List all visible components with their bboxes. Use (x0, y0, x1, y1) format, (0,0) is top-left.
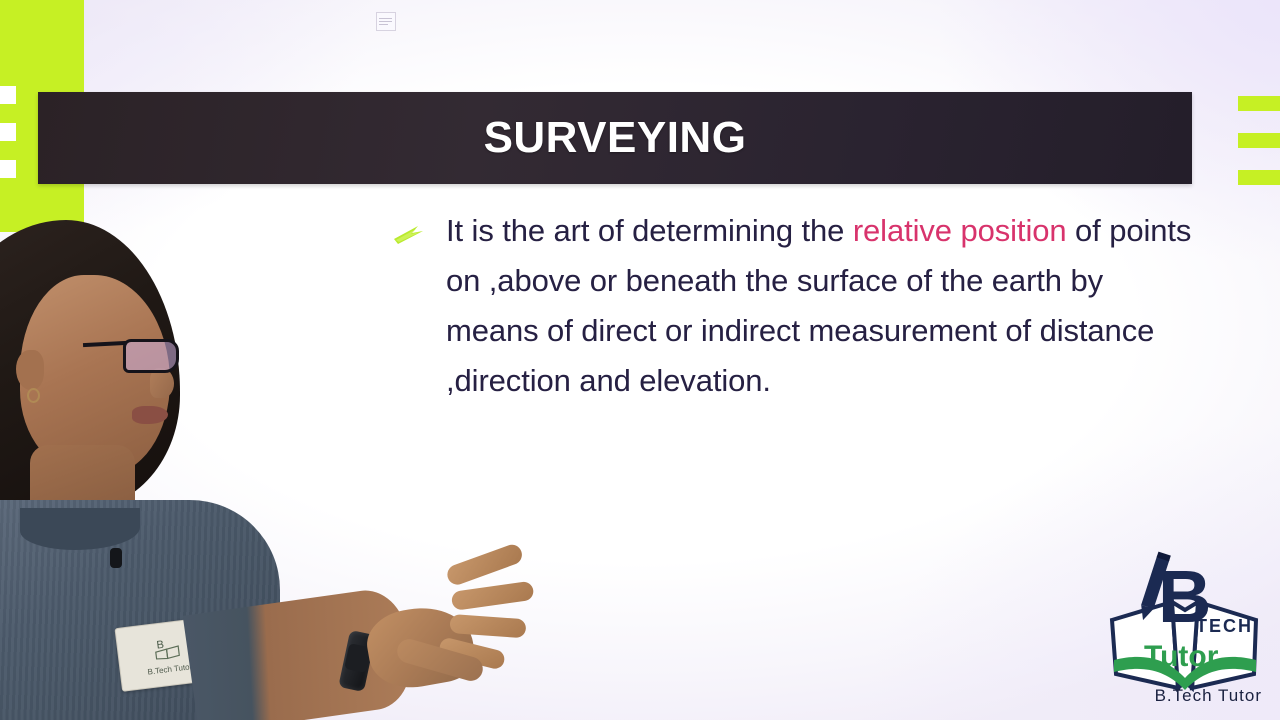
glasses-temple (83, 341, 127, 347)
bullet-block: It is the art of determining the relativ… (392, 206, 1204, 406)
presenter-glasses-icon (95, 337, 173, 371)
right-accent-dash (1238, 96, 1280, 111)
presenter-earring (27, 388, 40, 403)
slide-title: SURVEYING (484, 113, 747, 163)
artifact-line (379, 21, 392, 22)
slide-title-bar: SURVEYING (38, 92, 1192, 184)
bullet-text-highlight: relative position (853, 213, 1067, 248)
presenter-ear (16, 350, 44, 390)
glasses-lens (123, 339, 179, 373)
brand-watermark: B.Tech Tutor (1155, 686, 1262, 706)
right-accent-dash (1238, 170, 1280, 185)
accent-dash (0, 123, 16, 141)
document-artifact-icon (376, 12, 396, 31)
slide-screenshot: SURVEYING It is the art of determining t… (0, 0, 1280, 720)
accent-dash (0, 86, 16, 104)
bullet-text-part-1: It is the art of determining the (446, 213, 853, 248)
logo-text-tutor: Tutor (1144, 640, 1219, 673)
bullet-paragraph: It is the art of determining the relativ… (426, 206, 1204, 406)
accent-dash (0, 160, 16, 178)
badge-logo-icon: B (149, 633, 186, 665)
logo-text-tech: TECH (1196, 616, 1253, 636)
artifact-line (379, 24, 388, 25)
artifact-line (379, 18, 392, 19)
arrow-bullet-icon (392, 220, 426, 250)
lapel-microphone-icon (110, 548, 122, 568)
right-accent-dash (1238, 133, 1280, 148)
